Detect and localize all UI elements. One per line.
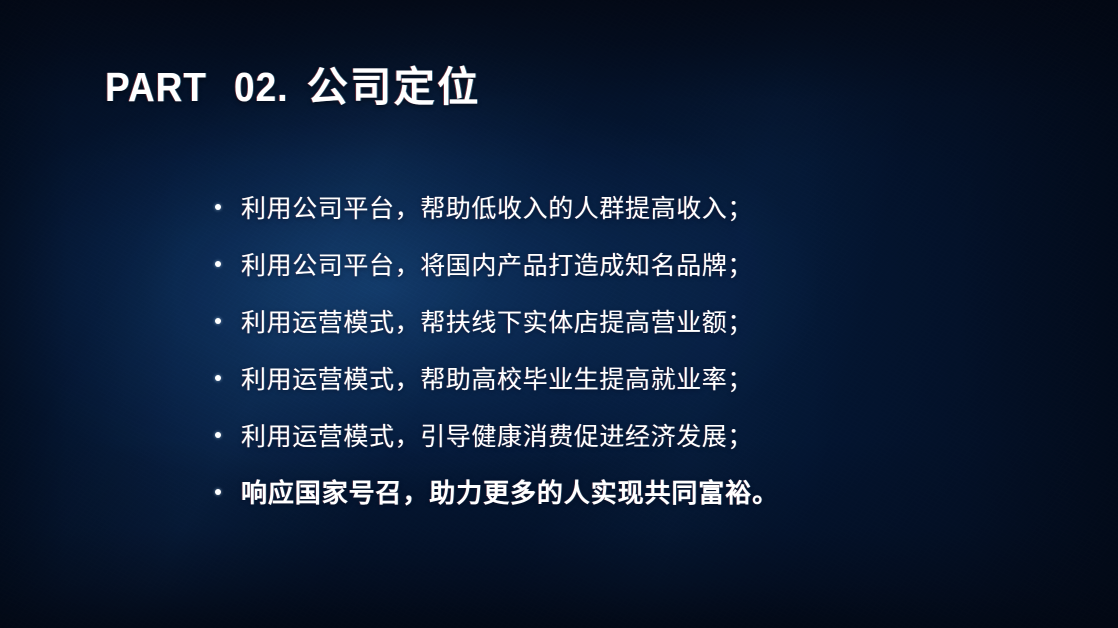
bullet-dot-icon bbox=[215, 318, 221, 324]
bullet-dot-icon bbox=[215, 432, 221, 438]
list-item-label: 利用公司平台，帮助低收入的人群提高收入； bbox=[241, 189, 753, 225]
slide-content: PART02. 公司定位 利用公司平台，帮助低收入的人群提高收入； 利用公司平台… bbox=[0, 0, 1118, 628]
page-title-number: 02. bbox=[234, 67, 289, 108]
page-title-heading: 公司定位 bbox=[307, 63, 481, 111]
bullet-dot-icon bbox=[215, 204, 221, 210]
list-item: 利用公司平台，帮助低收入的人群提高收入； bbox=[207, 178, 847, 235]
list-item: 利用运营模式，帮助高校毕业生提高就业率； bbox=[207, 349, 847, 406]
bullet-dot-icon bbox=[215, 489, 221, 495]
page-title: PART02. 公司定位 bbox=[105, 67, 481, 108]
list-item: 利用公司平台，将国内产品打造成知名品牌； bbox=[207, 235, 847, 292]
presentation-slide: PART02. 公司定位 利用公司平台，帮助低收入的人群提高收入； 利用公司平台… bbox=[0, 0, 1118, 628]
bullet-dot-icon bbox=[215, 375, 221, 381]
list-item: 利用运营模式，引导健康消费促进经济发展； bbox=[207, 406, 847, 463]
list-item-label: 利用运营模式，帮扶线下实体店提高营业额； bbox=[241, 303, 753, 339]
page-title-part-label: PART bbox=[105, 67, 207, 108]
list-item: 利用运营模式，帮扶线下实体店提高营业额； bbox=[207, 292, 847, 349]
bullet-list: 利用公司平台，帮助低收入的人群提高收入； 利用公司平台，将国内产品打造成知名品牌… bbox=[207, 178, 847, 520]
list-item: 响应国家号召，助力更多的人实现共同富裕。 bbox=[207, 463, 847, 520]
list-item-label: 响应国家号召，助力更多的人实现共同富裕。 bbox=[241, 473, 779, 510]
list-item-label: 利用运营模式，帮助高校毕业生提高就业率； bbox=[241, 360, 753, 396]
list-item-label: 利用运营模式，引导健康消费促进经济发展； bbox=[241, 417, 753, 453]
list-item-label: 利用公司平台，将国内产品打造成知名品牌； bbox=[241, 246, 753, 282]
bullet-dot-icon bbox=[215, 261, 221, 267]
